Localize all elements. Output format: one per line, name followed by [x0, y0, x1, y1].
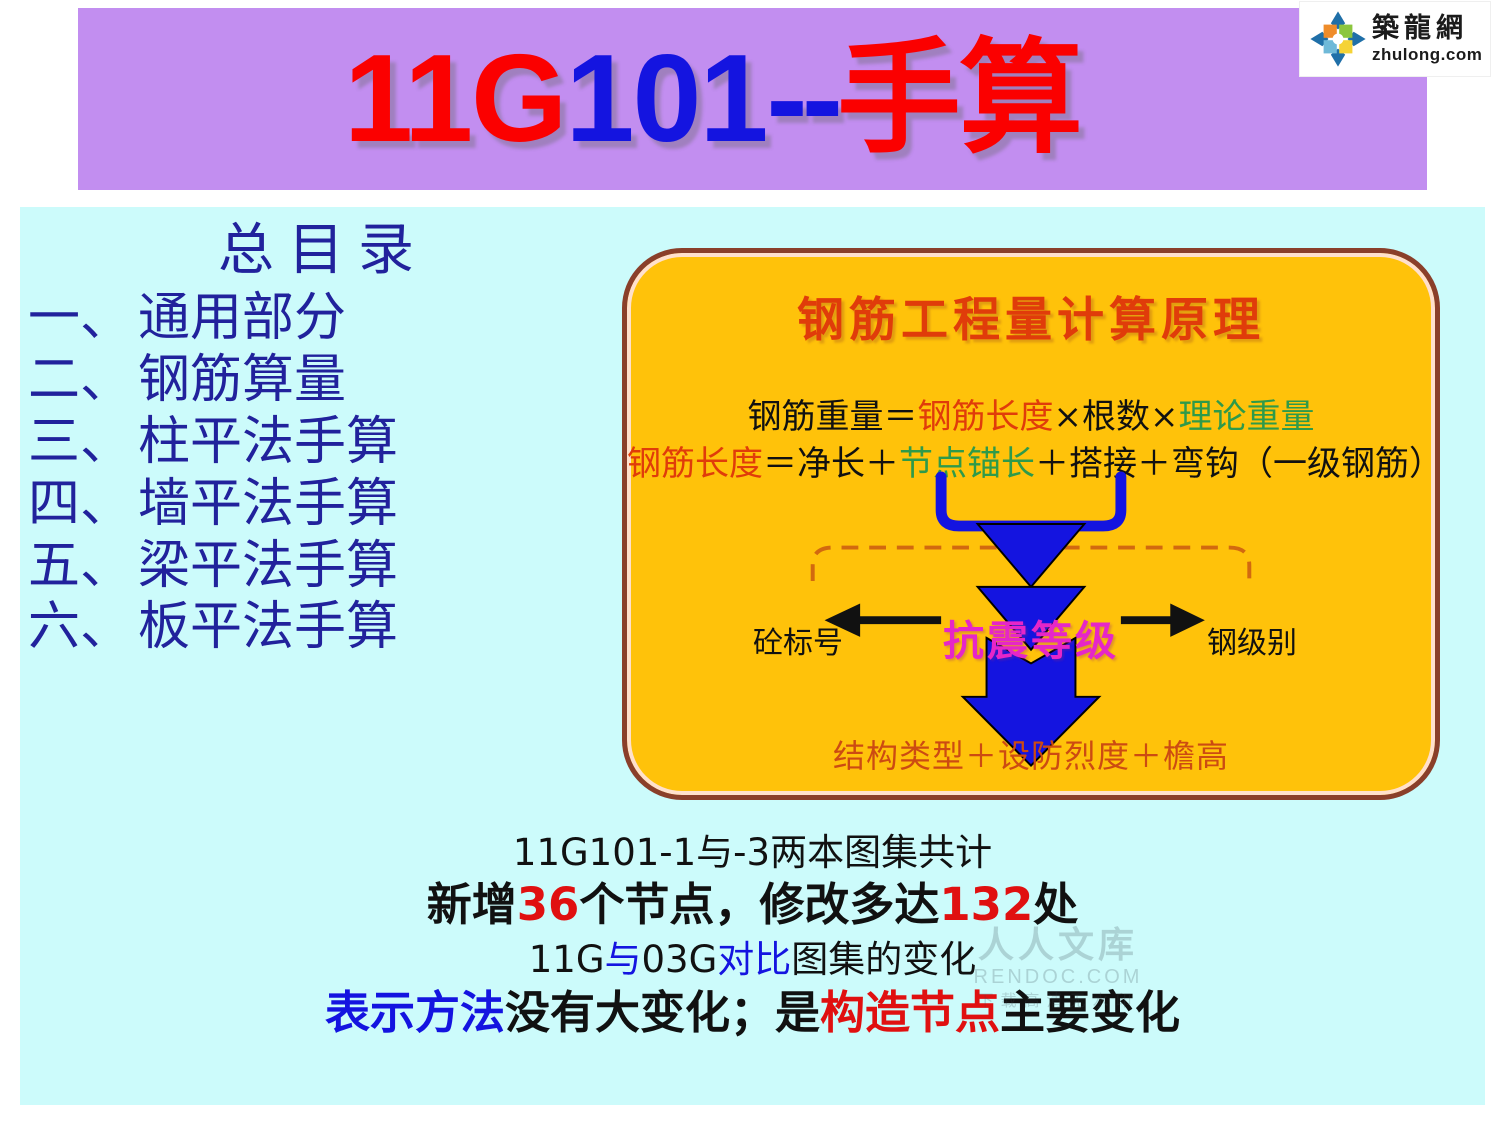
- summary-modify-count: 132: [939, 878, 1033, 931]
- funnel-upper-icon: [978, 524, 1085, 587]
- toc-item-2-num: 二、: [28, 350, 132, 410]
- toc-item-1-label: 通用部分: [138, 288, 346, 348]
- toc-title: 总目录: [58, 218, 588, 284]
- summary-block: 11G101-1与-3两本图集共计 新增36个节点，修改多达132处 11G与0…: [20, 830, 1485, 1042]
- toc-item-6-num: 六、: [28, 597, 132, 657]
- table-of-contents: 总目录 一、通用部分 二、钢筋算量 三、柱平法手算 四、墙平法手算 五、梁平法手…: [28, 218, 588, 659]
- summary-line-2-p5: 处: [1033, 878, 1078, 931]
- summary-line-4-p3: 构造节点: [820, 986, 1000, 1039]
- toc-item-3-label: 柱平法手算: [138, 412, 398, 472]
- header-band: [78, 8, 1427, 190]
- principle-card: 钢筋工程量计算原理 钢筋重量＝钢筋长度×根数×理论重量 钢筋长度＝净长＋节点锚长…: [622, 248, 1440, 800]
- summary-line-4-p2: 没有大变化；是: [505, 986, 820, 1039]
- summary-line-3-p3: 03G: [642, 938, 718, 981]
- slide-canvas: 11G101--手算 築龍網 zhulong.com 总目录 一、通用部分 二、…: [0, 0, 1500, 1125]
- toc-item-4-num: 四、: [28, 474, 132, 534]
- bracket-icon: [941, 477, 1121, 526]
- summary-line-2-p3: 个节点，修改多达: [579, 878, 939, 931]
- summary-line-2: 新增36个节点，修改多达132处: [20, 875, 1485, 936]
- summary-line-4-p1: 表示方法: [325, 986, 505, 1039]
- summary-line-4: 表示方法没有大变化；是构造节点主要变化: [20, 984, 1485, 1043]
- diagram-label-bottom: 结构类型＋设防烈度＋檐高: [627, 731, 1435, 777]
- toc-item-2-label: 钢筋算量: [138, 350, 346, 410]
- toc-item-5[interactable]: 五、梁平法手算: [28, 536, 588, 598]
- toc-item-3[interactable]: 三、柱平法手算: [28, 412, 588, 474]
- toc-item-6-label: 板平法手算: [138, 597, 398, 657]
- summary-line-3-p1: 11G: [529, 938, 605, 981]
- summary-line-4-p4: 主要变化: [1000, 986, 1180, 1039]
- summary-new-node-count: 36: [517, 878, 580, 931]
- summary-line-1: 11G101-1与-3两本图集共计: [20, 830, 1485, 875]
- diagram-label-right: 钢级别: [1207, 618, 1297, 662]
- toc-item-6[interactable]: 六、板平法手算: [28, 597, 588, 659]
- toc-item-4[interactable]: 四、墙平法手算: [28, 474, 588, 536]
- logo-text: 築龍網 zhulong.com: [1372, 15, 1482, 63]
- summary-line-2-p1: 新增: [427, 878, 517, 931]
- toc-item-4-label: 墙平法手算: [138, 474, 398, 534]
- toc-item-5-num: 五、: [28, 536, 132, 596]
- summary-line-3-p4: 对比: [717, 938, 791, 981]
- summary-line-3-p2: 与: [605, 938, 642, 981]
- summary-line-3: 11G与03G对比图集的变化: [20, 936, 1485, 984]
- toc-item-3-num: 三、: [28, 412, 132, 472]
- diagram-label-center: 抗震等级: [627, 607, 1435, 667]
- toc-item-1[interactable]: 一、通用部分: [28, 288, 588, 350]
- logo-cn-name: 築龍網: [1372, 15, 1482, 42]
- logo-domain: zhulong.com: [1372, 46, 1482, 63]
- toc-item-5-label: 梁平法手算: [138, 536, 398, 596]
- principle-diagram: [627, 253, 1435, 795]
- summary-line-3-p5: 图集的变化: [791, 938, 976, 981]
- zhulong-flower-logo-icon: [1308, 9, 1368, 69]
- toc-item-2[interactable]: 二、钢筋算量: [28, 350, 588, 412]
- toc-item-1-num: 一、: [28, 288, 132, 348]
- brand-logo[interactable]: 築龍網 zhulong.com: [1300, 2, 1490, 76]
